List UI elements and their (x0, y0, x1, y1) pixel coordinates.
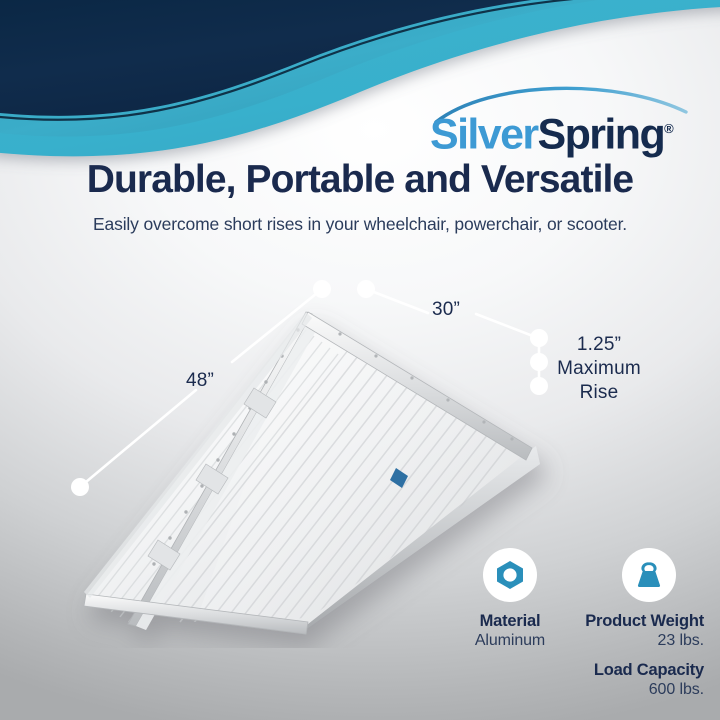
feature-material: Material Aluminum (452, 548, 568, 651)
feature-product-weight-value: 23 lbs. (574, 631, 704, 651)
logo-spring-text: Spring (538, 110, 665, 158)
brand-logo: SilverSpring® (430, 86, 694, 152)
feature-material-title: Material (452, 611, 568, 631)
logo-silver-text: Silver (430, 110, 538, 158)
page-title: Durable, Portable and Versatile (0, 158, 720, 202)
kettlebell-weight-icon (622, 548, 676, 602)
registered-mark: ® (664, 121, 674, 136)
feature-load-capacity-value: 600 lbs. (574, 680, 704, 700)
product-infographic: SilverSpring® Durable, Portable and Vers… (0, 0, 720, 720)
hex-nut-icon (483, 548, 537, 602)
feature-material-value: Aluminum (452, 631, 568, 651)
feature-specs: Material Aluminum Product Weight 23 lbs.… (452, 548, 704, 698)
logo-wordmark: SilverSpring® (430, 106, 694, 157)
feature-load-capacity-title: Load Capacity (574, 660, 704, 680)
page-subtitle: Easily overcome short rises in your whee… (0, 212, 720, 236)
feature-product-weight-title: Product Weight (574, 611, 704, 631)
feature-weight: Product Weight 23 lbs. Load Capacity 600… (574, 548, 704, 700)
